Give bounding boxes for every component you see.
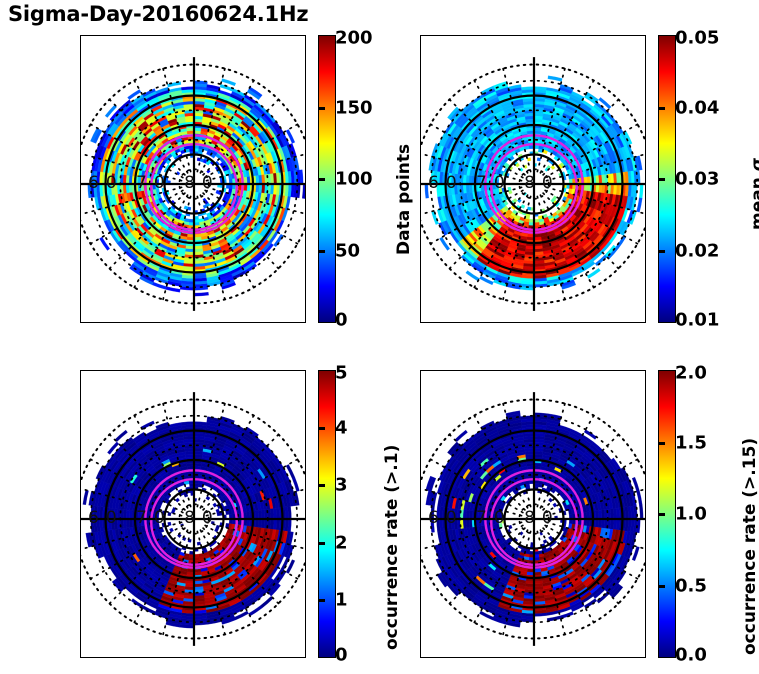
figure-title: Sigma-Day-20160624.1Hz — [8, 2, 308, 26]
heatmap-cell — [508, 525, 512, 529]
heatmap-cell — [587, 268, 600, 278]
heatmap-cell — [548, 498, 552, 502]
colorbar-tick-label: 150 — [335, 97, 373, 118]
polar-axes-top-right — [420, 35, 646, 323]
colorbar-tick-mark — [318, 542, 325, 545]
colorbar-tick-mark — [318, 107, 325, 110]
colorbar-tick-mark — [318, 599, 325, 602]
heatmap-cell — [115, 430, 128, 442]
panel-top-right: 60 70 80 — [420, 35, 646, 323]
colorbar-tick-label: 0.01 — [675, 310, 719, 331]
colorbar-ticks-bottom-right: 0.00.51.01.52.0 — [659, 371, 675, 657]
colorbar-title-top-left: Data points — [394, 144, 414, 255]
heatmap-cell — [152, 282, 166, 289]
polar-plot-bottom-right — [421, 371, 646, 658]
colorbar-tick-mark — [658, 178, 665, 181]
colorbar-tick-mark — [658, 513, 665, 516]
heatmap-cell — [425, 184, 429, 198]
polar-axes-bottom-right — [420, 370, 646, 658]
heatmap-cell — [166, 287, 180, 293]
polar-axes-bottom-left — [80, 370, 306, 658]
colorbar-tick-mark — [318, 427, 325, 430]
colorbar-tick-mark — [318, 250, 325, 253]
heatmap-cell — [639, 184, 643, 198]
heatmap-cell — [551, 165, 555, 169]
colorbar-tick-label: 0.5 — [675, 575, 707, 596]
colorbar-tick-label: 0.05 — [675, 28, 719, 49]
heatmap-cell — [466, 271, 480, 281]
colorbar-tick-label: 1.5 — [675, 432, 707, 453]
colorbar-bottom-right: 0.00.51.01.52.0 — [658, 370, 676, 658]
heatmap-cell — [616, 236, 626, 249]
heatmap-cell — [194, 292, 209, 296]
colorbar-tick-label: 5 — [335, 363, 348, 384]
colorbar-tick-label: 3 — [335, 475, 348, 496]
polar-axes-top-left — [80, 35, 306, 323]
heatmap-cell — [439, 237, 449, 250]
colorbar-tick-label: 2 — [335, 532, 348, 553]
panel-bottom-right: 60 70 80 — [420, 370, 646, 658]
heatmap-cell — [99, 237, 109, 250]
colorbar-tick-label: 0.02 — [675, 240, 719, 261]
heatmap-cell — [543, 539, 547, 543]
colorbar-tick-mark — [318, 484, 325, 487]
colorbar-tick-label: 0.04 — [675, 97, 719, 118]
colorbar-tick-label: 100 — [335, 169, 373, 190]
colorbar-title-top-right: mean σφ — [748, 149, 759, 230]
colorbar-tick-mark — [658, 585, 665, 588]
polar-plot-bottom-left — [81, 371, 306, 658]
heatmap-cell — [141, 421, 155, 430]
colorbar-tick-label: 1 — [335, 589, 348, 610]
figure-canvas: Sigma-Day-20160624.1Hz 60 70 80 05010015… — [0, 0, 759, 674]
colorbar-tick-label: 0.03 — [675, 169, 719, 190]
colorbar-top-left: 050100150200 — [318, 35, 336, 323]
colorbar-tick-label: 0 — [335, 645, 348, 666]
heatmap-cell — [302, 184, 306, 199]
colorbar-ticks-bottom-left: 012345 — [319, 371, 335, 657]
panel-top-left: 60 70 80 — [80, 35, 306, 323]
colorbar-bottom-left: 012345 — [318, 370, 336, 658]
colorbar-ticks-top-right: 0.010.020.030.040.05 — [659, 36, 675, 322]
heatmap-cell — [206, 496, 210, 500]
colorbar-tick-mark — [318, 178, 325, 181]
polar-plot-top-right — [421, 36, 646, 323]
heatmap-cell — [637, 198, 643, 212]
heatmap-cell — [637, 491, 643, 505]
colorbar-top-right: 0.010.020.030.040.05 — [658, 35, 676, 323]
heatmap-cell — [184, 206, 188, 210]
colorbar-tick-mark — [658, 107, 665, 110]
heatmap-cell — [548, 76, 562, 82]
heatmap-cell — [553, 503, 557, 507]
colorbar-tick-mark — [658, 442, 665, 445]
colorbar-tick-mark — [658, 250, 665, 253]
heatmap-cell — [213, 503, 217, 507]
colorbar-tick-label: 50 — [335, 240, 360, 261]
heatmap-cell — [175, 498, 179, 502]
colorbar-title-bottom-left: occurrence rate (>.1) — [382, 445, 402, 650]
colorbar-tick-label: 0 — [335, 310, 348, 331]
heatmap-cell — [260, 596, 273, 608]
colorbar-ticks-top-left: 050100150200 — [319, 36, 335, 322]
panel-bottom-left: 60 70 80 — [80, 370, 306, 658]
colorbar-tick-label: 0.0 — [675, 645, 707, 666]
heatmap-cell — [639, 505, 643, 519]
colorbar-tick-label: 200 — [335, 28, 373, 49]
colorbar-tick-label: 2.0 — [675, 363, 707, 384]
colorbar-tick-label: 1.0 — [675, 504, 707, 525]
heatmap-cell — [249, 606, 263, 616]
heatmap-cell — [169, 528, 173, 532]
heatmap-cell — [83, 490, 89, 505]
heatmap-cell — [221, 79, 235, 86]
heatmap-cell — [521, 204, 525, 208]
polar-plot-top-left — [81, 36, 306, 323]
colorbar-title-bottom-right: occurrence rate (>.15) — [740, 438, 759, 655]
colorbar-tick-label: 4 — [335, 418, 348, 439]
heatmap-cell — [455, 430, 468, 442]
